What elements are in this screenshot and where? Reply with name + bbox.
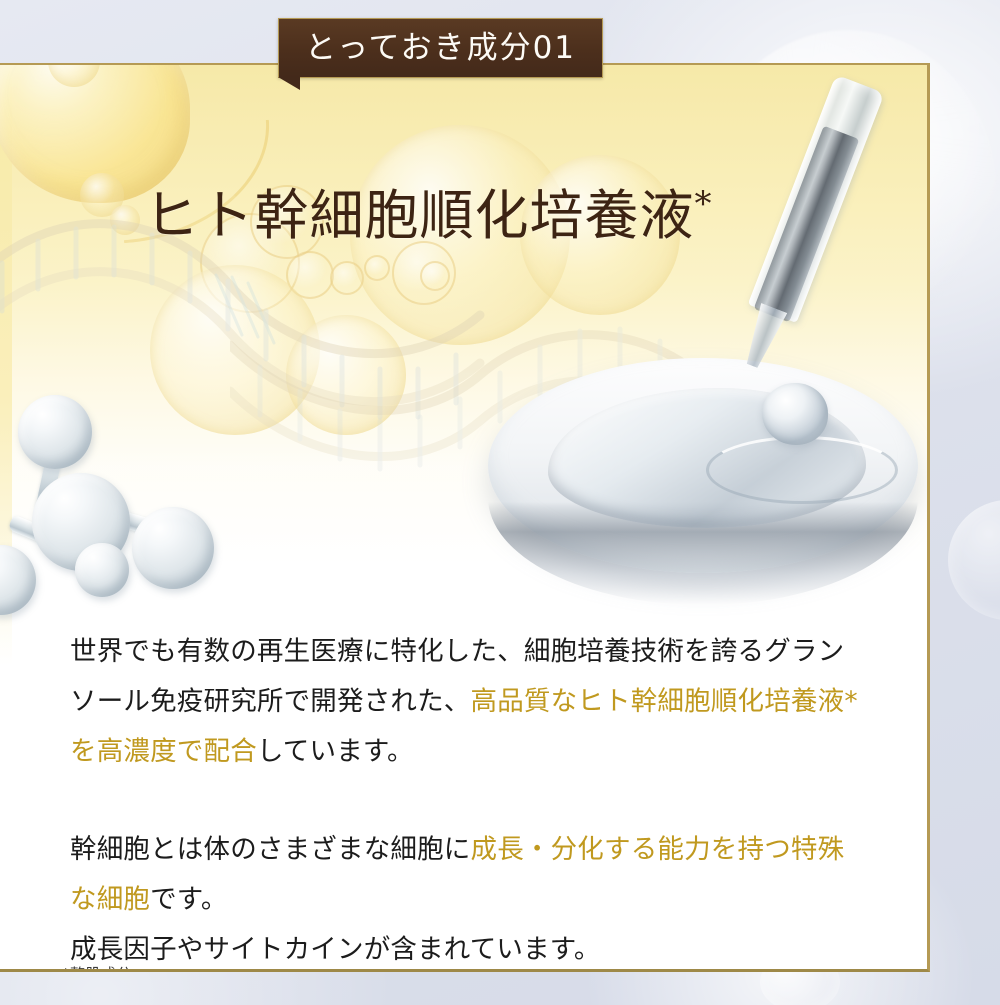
molecule-atom — [75, 543, 129, 597]
page-title-text: ヒト幹細胞順化培養液 — [145, 184, 695, 247]
pipette-tip — [739, 303, 787, 371]
page-root: ヒト幹細胞順化培養液* 世界でも有数の再生医療に特化した、細胞培養技術を誇るグラ… — [0, 0, 1000, 1005]
p1-line3-plain: しています。 — [257, 736, 414, 767]
section-badge-label: とっておき成分01 — [305, 33, 576, 64]
p2-line1-plain: 幹細胞とは体のさまざまな細胞に — [70, 834, 471, 865]
page-title-asterisk: * — [695, 184, 713, 224]
p2-line3-plain: 成長因子やサイトカインが含まれています。 — [70, 934, 601, 965]
molecule-model-icon — [0, 395, 250, 610]
paragraph-2: 幹細胞とは体のさまざまな細胞に成長・分化する能力を持つ特殊な細胞です。 成長因子… — [70, 825, 870, 972]
footnote: *整肌成分 — [62, 963, 132, 972]
p1-line1: 世界でも有数の再生医療に特化した、細胞培養技術を誇るグ — [70, 636, 791, 667]
section-badge: とっておき成分01 — [278, 18, 603, 78]
petri-dish-group — [470, 240, 930, 640]
page-title: ヒト幹細胞順化培養液* — [0, 186, 927, 245]
p1-line3-highlight-tail: を高濃度で配合 — [70, 736, 257, 767]
body-copy: 世界でも有数の再生医療に特化した、細胞培養技術を誇るグランソール免疫研究所で開発… — [70, 627, 870, 972]
p1-line3-mark: * — [844, 686, 857, 717]
p1-line2-highlight: 高品質なヒト幹細胞順 — [471, 686, 738, 717]
backdrop-bubble — [948, 500, 1000, 620]
p2-line1-highlight: 成長・分化する能力を持つ — [471, 834, 791, 865]
p2-line2-plain: です。 — [150, 884, 227, 915]
molecule-atom — [132, 507, 214, 589]
molecule-atom — [18, 395, 92, 469]
liquid-droplet — [762, 383, 828, 445]
liquid-ripple — [706, 436, 898, 504]
paragraph-spacer — [70, 777, 870, 825]
content-card: ヒト幹細胞順化培養液* 世界でも有数の再生医療に特化した、細胞培養技術を誇るグラ… — [0, 63, 930, 972]
paragraph-1: 世界でも有数の再生医療に特化した、細胞培養技術を誇るグランソール免疫研究所で開発… — [70, 627, 870, 777]
molecule-atom — [0, 545, 36, 615]
p1-line3-highlight: 化培養液 — [738, 686, 845, 717]
